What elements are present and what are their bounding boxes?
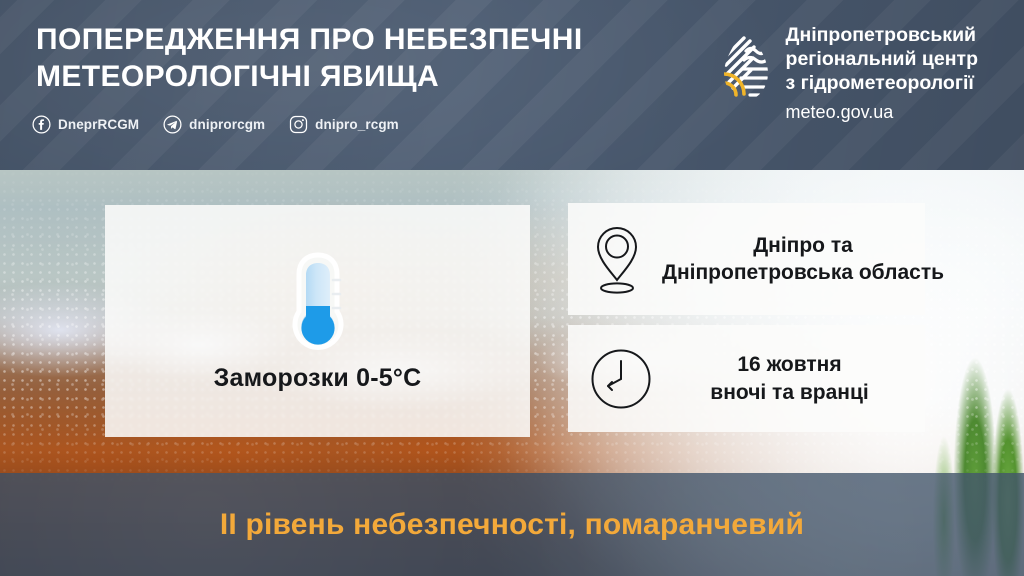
temperature-card: Заморозки 0-5°С [105,205,530,437]
location-line-2: Дніпропетровська область [662,259,944,286]
date-line-1: 16 жовтня [668,351,911,378]
brand-website[interactable]: meteo.gov.ua [786,101,978,124]
header-bar: ПОПЕРЕДЖЕННЯ ПРО НЕБЕЗПЕЧНІ МЕТЕОРОЛОГІЧ… [0,0,1024,170]
brand-name-line-1: Дніпропетровський [786,24,978,48]
map-pin-icon [588,223,646,295]
temperature-label: Заморозки 0-5°С [214,364,422,393]
hydrometeorology-droplet-logo-icon [720,26,772,106]
location-card: Дніпро та Дніпропетровська область [568,203,925,315]
telegram-icon [163,115,182,134]
brand-name-line-2: регіональний центр [786,48,978,72]
warning-level-text: II рівень небезпечності, помаранчевий [220,508,804,542]
thermometer-cold-icon [275,250,361,358]
page-title: ПОПЕРЕДЖЕННЯ ПРО НЕБЕЗПЕЧНІ МЕТЕОРОЛОГІЧ… [36,22,676,95]
social-link-instagram[interactable]: dnipro_rcgm [289,115,399,134]
social-links: DneprRCGM dniprorcgm [32,115,399,134]
brand-block: Дніпропетровський регіональний центр з г… [720,24,978,124]
social-handle-telegram: dniprorcgm [189,117,265,132]
instagram-icon [289,115,308,134]
location-line-1: Дніпро та [662,232,944,259]
weather-warning-poster: ПОПЕРЕДЖЕННЯ ПРО НЕБЕЗПЕЧНІ МЕТЕОРОЛОГІЧ… [0,0,1024,576]
date-line-2: вночі та вранці [668,379,911,406]
social-handle-instagram: dnipro_rcgm [315,117,399,132]
clock-icon [590,348,652,410]
social-handle-facebook: DneprRCGM [58,117,139,132]
location-text: Дніпро та Дніпропетровська область [662,232,944,287]
page-title-line-1: ПОПЕРЕДЖЕННЯ ПРО НЕБЕЗПЕЧНІ [36,22,676,59]
date-text: 16 жовтня вночі та вранці [668,351,911,406]
page-title-line-2: МЕТЕОРОЛОГІЧНІ ЯВИЩА [36,59,676,96]
brand-name-line-3: з гідрометеорології [786,72,978,96]
facebook-icon [32,115,51,134]
social-link-telegram[interactable]: dniprorcgm [163,115,265,134]
warning-level-banner: II рівень небезпечності, помаранчевий [0,473,1024,576]
date-card: 16 жовтня вночі та вранці [568,325,925,432]
social-link-facebook[interactable]: DneprRCGM [32,115,139,134]
